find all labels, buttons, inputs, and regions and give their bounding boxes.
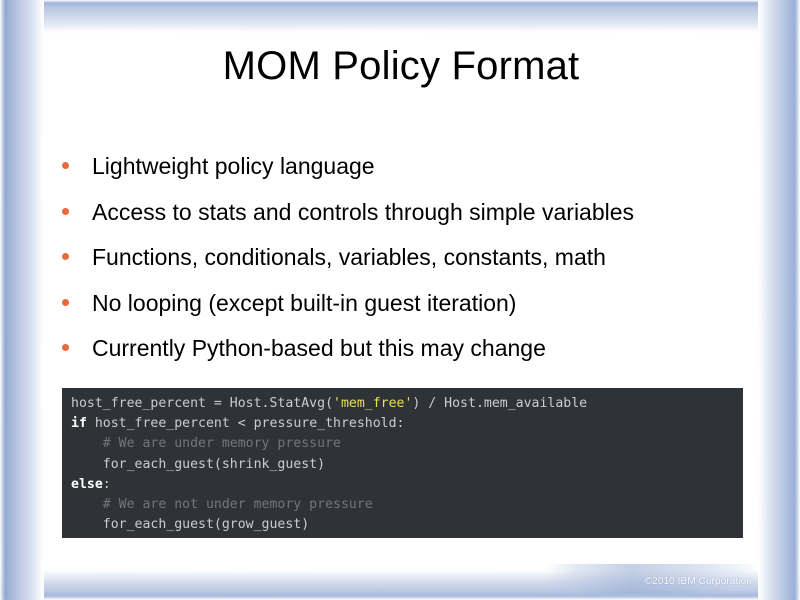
code-token-plain: : [103, 477, 111, 492]
bullet-text: Access to stats and controls through sim… [92, 198, 634, 226]
code-sample-block: host_free_percent = Host.StatAvg('mem_fr… [62, 388, 743, 538]
bullet-dot-icon [62, 208, 69, 215]
slide-title: MOM Policy Format [60, 44, 742, 88]
bullet-item: Access to stats and controls through sim… [62, 198, 740, 231]
code-token-keyword: else [71, 477, 103, 492]
code-token-comment: # We are not under memory pressure [71, 497, 373, 512]
code-line: # We are not under memory pressure [71, 495, 743, 515]
code-line: host_free_percent = Host.StatAvg('mem_fr… [71, 394, 743, 414]
code-token-string: 'mem_free' [333, 396, 412, 411]
bullet-item: Lightweight policy language [62, 152, 740, 185]
slide-content: MOM Policy Format Lightweight policy lan… [0, 0, 800, 600]
bullet-dot-icon [62, 344, 69, 351]
bullet-dot-icon [62, 299, 69, 306]
code-line: if host_free_percent < pressure_threshol… [71, 414, 743, 434]
bullet-dot-icon [62, 253, 69, 260]
bullet-item: Currently Python-based but this may chan… [62, 334, 740, 367]
bullet-text: Lightweight policy language [92, 152, 375, 180]
code-token-plain: for_each_guest(grow_guest) [71, 517, 309, 532]
code-token-comment: # We are under memory pressure [71, 436, 341, 451]
code-line: for_each_guest(shrink_guest) [71, 455, 743, 475]
code-line: # We are under memory pressure [71, 434, 743, 454]
code-token-plain: ) / Host.mem_available [412, 396, 587, 411]
code-token-plain: host_free_percent < pressure_threshold: [87, 416, 405, 431]
code-line: for_each_guest(grow_guest) [71, 515, 743, 535]
bullet-text: Currently Python-based but this may chan… [92, 334, 546, 362]
code-token-plain: for_each_guest(shrink_guest) [71, 457, 325, 472]
bullet-dot-icon [62, 162, 69, 169]
bullet-text: No looping (except built-in guest iterat… [92, 289, 516, 317]
bullet-item: Functions, conditionals, variables, cons… [62, 243, 740, 276]
code-token-plain: host_free_percent = Host.StatAvg( [71, 396, 333, 411]
slide: MOM Policy Format Lightweight policy lan… [0, 0, 800, 600]
bullet-item: No looping (except built-in guest iterat… [62, 289, 740, 322]
code-line: else: [71, 475, 743, 495]
code-token-keyword: if [71, 416, 87, 431]
bullet-text: Functions, conditionals, variables, cons… [92, 243, 606, 271]
footer-copyright: ©2010 IBM Corporation [645, 576, 752, 587]
bullet-list: Lightweight policy language Access to st… [62, 152, 740, 380]
